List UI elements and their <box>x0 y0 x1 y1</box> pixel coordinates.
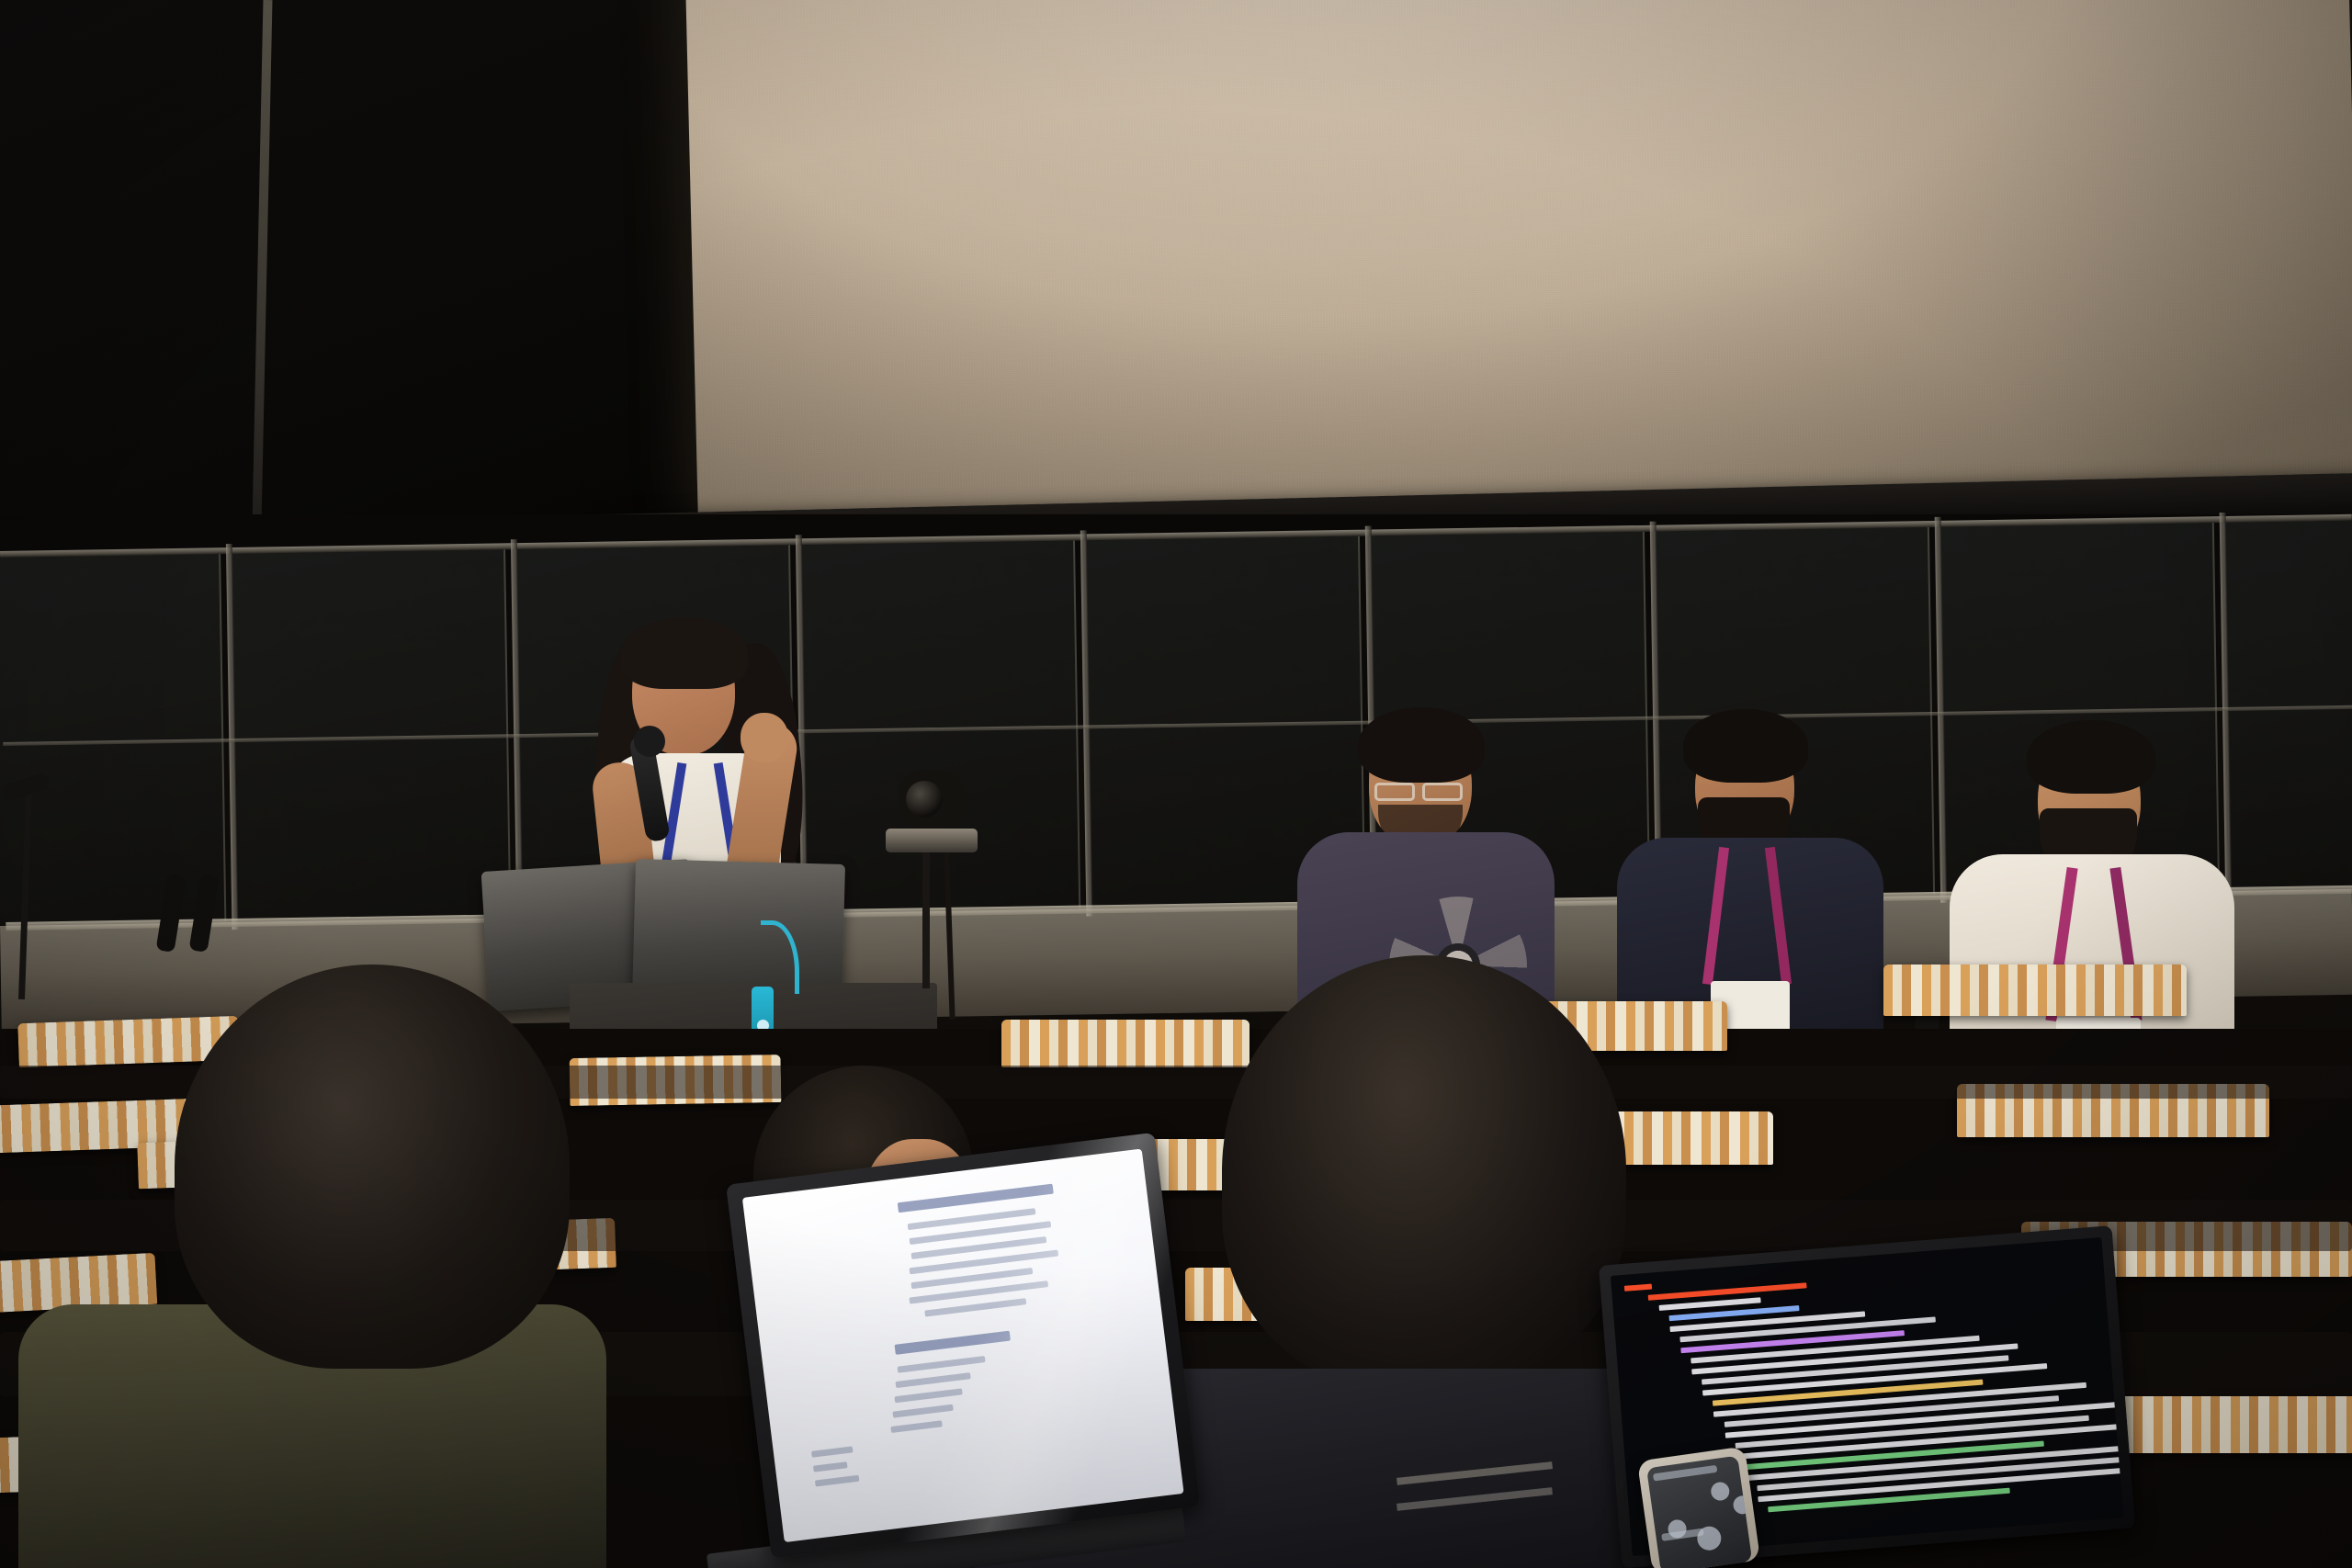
doc-line <box>896 1372 971 1388</box>
camera-base <box>886 829 978 852</box>
doc-sidebar-line <box>813 1461 848 1472</box>
doc-line <box>924 1298 1026 1316</box>
handheld-phone[interactable] <box>1637 1446 1760 1568</box>
audience-front-left-head <box>175 964 570 1369</box>
eyeglasses-icon <box>1374 783 1415 801</box>
doc-line <box>891 1420 943 1433</box>
seat <box>1883 964 2187 1016</box>
doc-sidebar-line <box>815 1475 860 1487</box>
doc-line <box>892 1404 954 1418</box>
doc-heading <box>895 1331 1011 1355</box>
eyeglasses-icon <box>1422 783 1463 801</box>
panelist-hair <box>1358 707 1485 783</box>
panelist-hair <box>2027 720 2155 794</box>
doc-line <box>897 1356 985 1373</box>
phone-screen[interactable] <box>1646 1456 1752 1568</box>
speaker-hair-top <box>621 617 748 689</box>
hall-wall-left <box>0 0 726 570</box>
phone-row <box>1653 1465 1717 1482</box>
phone-app-icon[interactable] <box>1732 1495 1752 1516</box>
doc-sidebar-line <box>811 1446 853 1457</box>
audience-front-right-head <box>1222 955 1626 1387</box>
phone-app-icon[interactable] <box>1710 1481 1731 1502</box>
auditorium-scene: → Evaluates your strategy and execution … <box>0 0 2352 1568</box>
code-line <box>1624 1283 1653 1291</box>
doc-line <box>894 1388 962 1403</box>
camera-stand <box>922 851 930 988</box>
projection-screen: → Evaluates your strategy and execution … <box>676 0 2352 524</box>
document-laptop[interactable] <box>726 1133 1200 1559</box>
camera-lens-icon <box>906 781 943 818</box>
code-line <box>1648 1282 1807 1301</box>
screen-vignette <box>676 0 2352 524</box>
seat <box>1001 1020 1249 1067</box>
document-laptop-screen[interactable] <box>742 1149 1184 1543</box>
panelist-hair <box>1683 709 1808 783</box>
wall-light-strip <box>252 0 273 570</box>
speaker-raised-hand <box>741 713 788 762</box>
doc-section <box>793 1315 1141 1443</box>
microphone-capsule <box>634 726 665 757</box>
